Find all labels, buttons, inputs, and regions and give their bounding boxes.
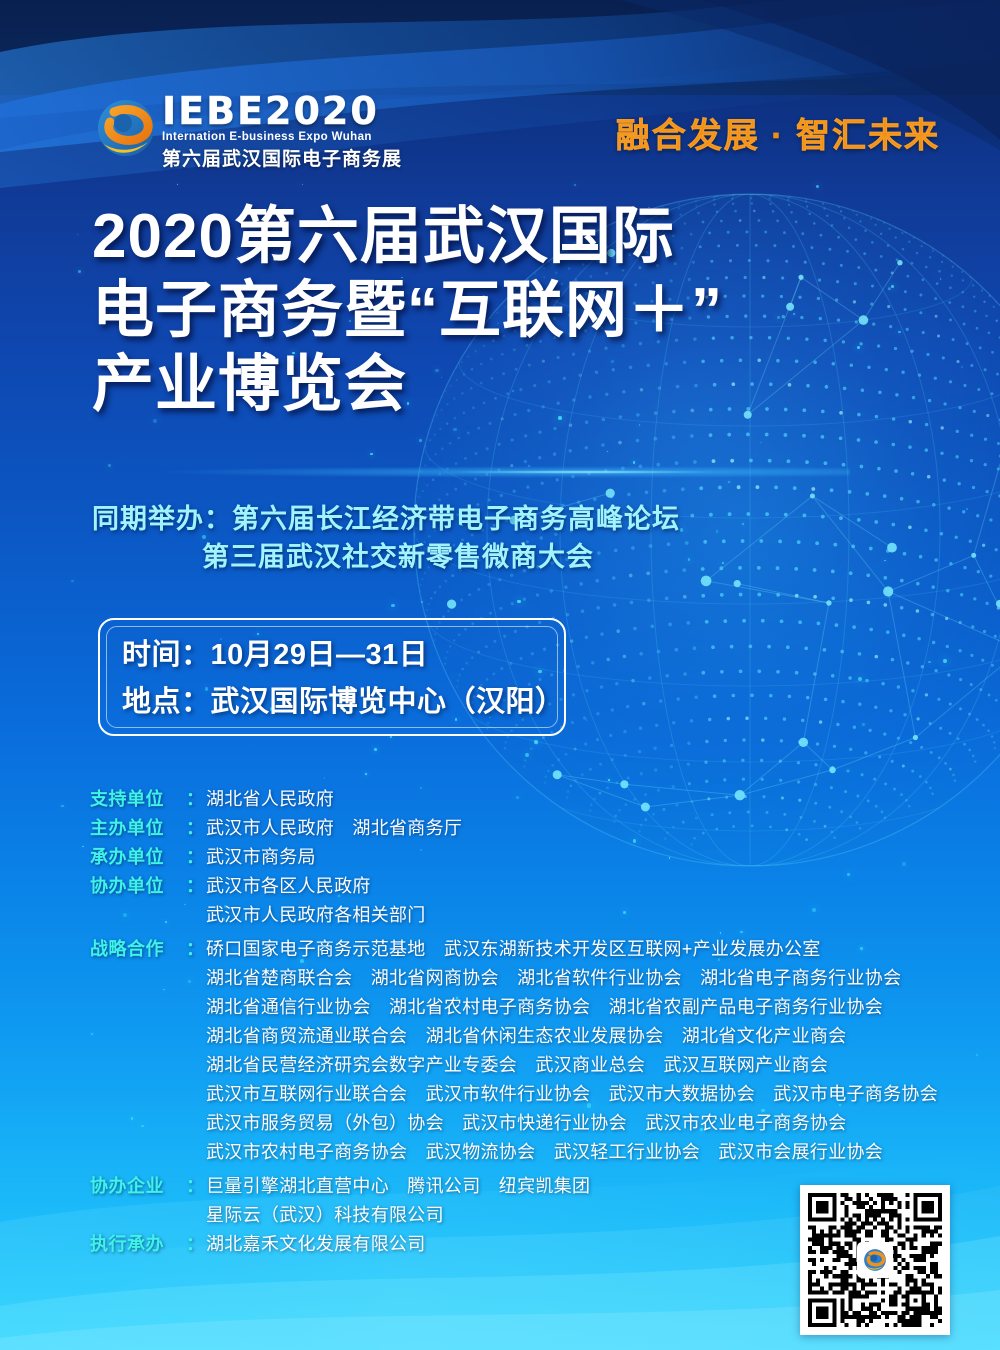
star-dot: [365, 773, 367, 775]
event-info-rows: 时间：10月29日—31日 地点：武汉国际博览中心（汉阳）: [100, 632, 564, 726]
credit-row: 战略合作：武汉市服务贸易（外包）协会 武汉市快递行业协会 武汉市农业电子商务协会: [90, 1109, 970, 1138]
subtitle: 同期举办：第六届长江经济带电子商务高峰论坛 第三届武汉社交新零售微商大会: [92, 500, 752, 576]
credit-row: 主办单位：武汉市人民政府 湖北省商务厅: [90, 814, 970, 843]
credit-label: 协办单位: [90, 872, 186, 901]
subtitle-line-1: 同期举办：第六届长江经济带电子商务高峰论坛: [92, 500, 752, 538]
logo-english: Internation E-business Expo Wuhan: [162, 131, 420, 143]
qr-code[interactable]: [800, 1185, 950, 1335]
credit-label: 执行承办: [90, 1230, 186, 1259]
page-title: 2020第六届武汉国际 电子商务暨“互联网＋” 产业博览会: [92, 200, 792, 422]
credit-row: 战略合作：湖北省楚商联合会 湖北省网商协会 湖北省软件行业协会 湖北省电子商务行…: [90, 964, 970, 993]
event-logo: IEBE2020 Internation E-business Expo Wuh…: [90, 92, 420, 170]
credit-value: 武汉市服务贸易（外包）协会 武汉市快递行业协会 武汉市农业电子商务协会: [206, 1109, 970, 1138]
credit-label: 承办单位: [90, 843, 186, 872]
logo-text-block: IEBE2020 Internation E-business Expo Wuh…: [162, 92, 420, 171]
credit-row: 协办单位：武汉市人民政府各相关部门: [90, 901, 970, 930]
event-venue: 地点：武汉国际博览中心（汉阳）: [100, 679, 564, 726]
credit-value: 硚口国家电子商务示范基地 武汉东湖新技术开发区互联网+产业发展办公室: [206, 935, 970, 964]
star-dot: [966, 508, 968, 510]
star-dot: [374, 748, 377, 751]
credit-colon: ：: [186, 935, 206, 964]
tagline: 融合发展 · 智汇未来: [616, 108, 940, 157]
credit-colon: ：: [186, 843, 206, 872]
credit-label: 战略合作: [90, 935, 186, 964]
credit-value: 湖北省通信行业协会 湖北省农村电子商务协会 湖北省农副产品电子商务行业协会: [206, 993, 970, 1022]
credit-row: 承办单位：武汉市商务局: [90, 843, 970, 872]
star-dot: [390, 736, 392, 738]
star-dot: [61, 805, 63, 807]
credit-row: 战略合作：武汉市农村电子商务协会 武汉物流协会 武汉轻工行业协会 武汉市会展行业…: [90, 1138, 970, 1167]
credit-label: 主办单位: [90, 814, 186, 843]
star-dot: [728, 481, 730, 483]
credit-colon: ：: [186, 814, 206, 843]
title-line-2: 电子商务暨“互联网＋”: [92, 274, 792, 348]
credit-value: 武汉市互联网行业联合会 武汉市软件行业协会 武汉市大数据协会 武汉市电子商务协会: [206, 1080, 970, 1109]
credit-row: 协办单位：武汉市各区人民政府: [90, 872, 970, 901]
logo-chinese: 第六届武汉国际电子商务展: [162, 144, 420, 171]
event-date: 时间：10月29日—31日: [100, 632, 564, 679]
star-dot: [525, 753, 529, 757]
qr-center-logo: [857, 1242, 893, 1278]
title-line-3: 产业博览会: [92, 348, 792, 422]
credit-row: 战略合作：湖北省商贸流通业联合会 湖北省休闲生态农业发展协会 湖北省文化产业商会: [90, 1022, 970, 1051]
credit-row: 战略合作：武汉市互联网行业联合会 武汉市软件行业协会 武汉市大数据协会 武汉市电…: [90, 1080, 970, 1109]
credit-value: 武汉市商务局: [206, 843, 970, 872]
credit-value: 武汉市农村电子商务协会 武汉物流协会 武汉轻工行业协会 武汉市会展行业协会: [206, 1138, 970, 1167]
star-dot: [324, 777, 326, 779]
credit-row: 战略合作：湖北省民营经济研究会数字产业专委会 武汉商业总会 武汉互联网产业商会: [90, 1051, 970, 1080]
star-dot: [528, 465, 530, 467]
logo-brand: IEBE2020: [162, 92, 420, 130]
iebe-e-swoosh-logo-icon: [90, 94, 162, 162]
credit-value: 湖北省楚商联合会 湖北省网商协会 湖北省软件行业协会 湖北省电子商务行业协会: [206, 964, 970, 993]
star-dot: [976, 1054, 978, 1056]
subtitle-line-2: 第三届武汉社交新零售微商大会: [92, 538, 752, 576]
credit-label: 协办企业: [90, 1172, 186, 1201]
star-dot: [608, 779, 610, 781]
title-line-1: 2020第六届武汉国际: [92, 200, 792, 274]
credit-value: 湖北省民营经济研究会数字产业专委会 武汉商业总会 武汉互联网产业商会: [206, 1051, 970, 1080]
credit-row: 战略合作：硚口国家电子商务示范基地 武汉东湖新技术开发区互联网+产业发展办公室: [90, 935, 970, 964]
credit-value: 湖北省人民政府: [206, 785, 970, 814]
credit-row: 战略合作：湖北省通信行业协会 湖北省农村电子商务协会 湖北省农副产品电子商务行业…: [90, 993, 970, 1022]
credit-colon: ：: [186, 872, 206, 901]
star-dot: [607, 451, 608, 452]
credit-colon: ：: [186, 785, 206, 814]
star-dot: [517, 600, 521, 604]
star-dot: [633, 461, 635, 463]
star-dot: [891, 285, 894, 288]
credit-value: 武汉市人民政府各相关部门: [206, 901, 970, 930]
credit-colon: ：: [186, 1230, 206, 1259]
star-dot: [858, 677, 862, 681]
poster-root: IEBE2020 Internation E-business Expo Wuh…: [0, 0, 1000, 1350]
credit-value: 武汉市各区人民政府: [206, 872, 970, 901]
credit-row: 支持单位：湖北省人民政府: [90, 785, 970, 814]
star-dot: [943, 659, 947, 663]
credit-value: 武汉市人民政府 湖北省商务厅: [206, 814, 970, 843]
credit-value: 湖北省商贸流通业联合会 湖北省休闲生态农业发展协会 湖北省文化产业商会: [206, 1022, 970, 1051]
credit-label: 支持单位: [90, 785, 186, 814]
credit-colon: ：: [186, 1172, 206, 1201]
event-info-box: 时间：10月29日—31日 地点：武汉国际博览中心（汉阳）: [98, 618, 566, 736]
star-dot: [862, 723, 865, 726]
